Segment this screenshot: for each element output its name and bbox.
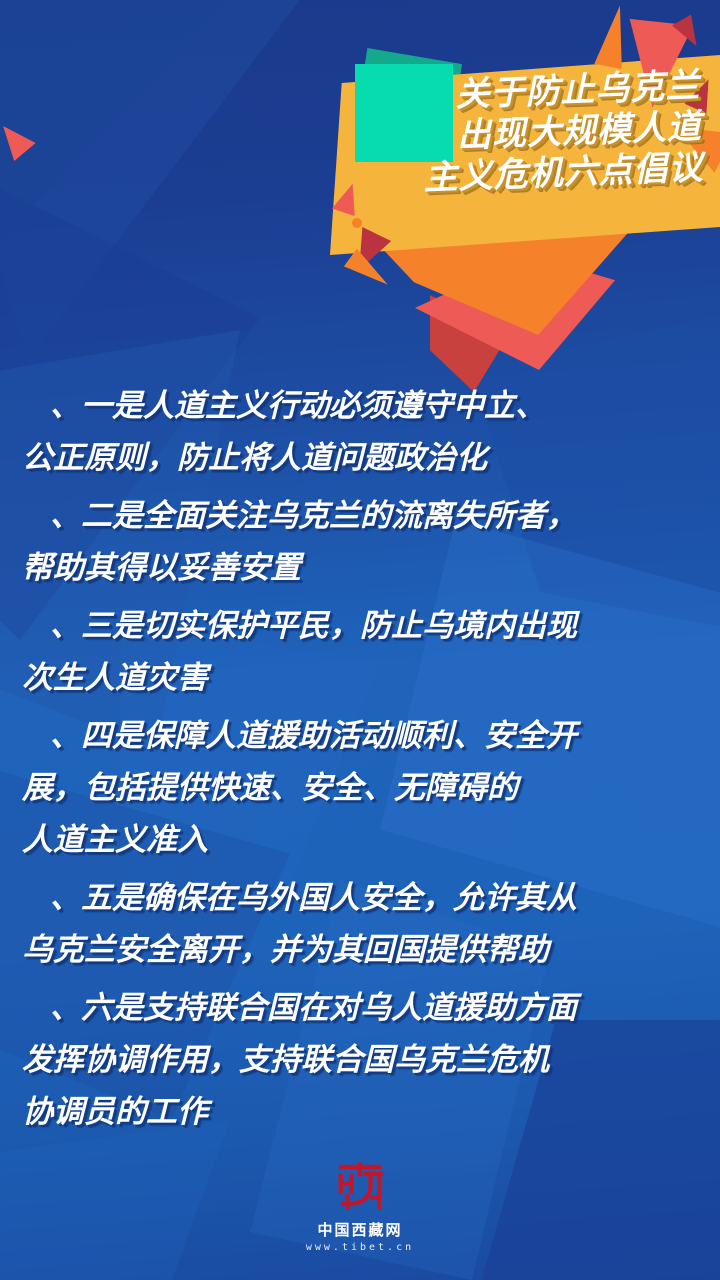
point-line: 次生人道灾害 <box>22 652 698 704</box>
list-item: 、三是切实保护平民，防止乌境内出现 次生人道灾害 <box>22 600 698 704</box>
point-line: 帮助其得以妥善安置 <box>22 542 698 594</box>
list-item: 、一是人道主义行动必须遵守中立、 公正原则，防止将人道问题政治化 <box>22 380 698 484</box>
poster-root: 关于防止乌克兰 出现大规模人道 主义危机六点倡议 、一是人道主义行动必须遵守中立… <box>0 0 720 1280</box>
point-line: 、六是支持联合国在对乌人道援助方面 <box>22 982 698 1034</box>
point-line: 协调员的工作 <box>22 1086 698 1138</box>
triangle-decoration-icon <box>0 117 36 161</box>
point-line: 、一是人道主义行动必须遵守中立、 <box>22 380 698 432</box>
background-facet <box>0 0 230 240</box>
list-item: 、六是支持联合国在对乌人道援助方面 发挥协调作用，支持联合国乌克兰危机 协调员的… <box>22 982 698 1138</box>
background-facet <box>0 0 330 360</box>
point-line: 公正原则，防止将人道问题政治化 <box>22 432 698 484</box>
list-item: 、四是保障人道援助活动顺利、安全开 展，包括提供快速、安全、无障碍的 人道主义准… <box>22 710 698 866</box>
tibet-seal-logo-icon <box>332 1159 388 1215</box>
site-footer: 中国西藏网 www.tibet.cn <box>0 1159 720 1254</box>
point-line: 、五是确保在乌外国人安全，允许其从 <box>22 872 698 924</box>
list-item: 、二是全面关注乌克兰的流离失所者， 帮助其得以妥善安置 <box>22 490 698 594</box>
point-line: 发挥协调作用，支持联合国乌克兰危机 <box>22 1034 698 1086</box>
point-line: 、四是保障人道援助活动顺利、安全开 <box>22 710 698 762</box>
point-line: 乌克兰安全离开，并为其回国提供帮助 <box>22 924 698 976</box>
site-url: www.tibet.cn <box>0 1242 720 1254</box>
dot-decoration-icon <box>352 218 362 228</box>
point-line: 、二是全面关注乌克兰的流离失所者， <box>22 490 698 542</box>
proposal-point-list: 、一是人道主义行动必须遵守中立、 公正原则，防止将人道问题政治化 、二是全面关注… <box>0 380 720 1144</box>
page-title: 关于防止乌克兰 出现大规模人道 主义危机六点倡议 <box>350 65 720 202</box>
site-name: 中国西藏网 <box>0 1221 720 1239</box>
point-line: 展，包括提供快速、安全、无障碍的 <box>22 762 698 814</box>
point-line: 人道主义准入 <box>22 814 698 866</box>
list-item: 、五是确保在乌外国人安全，允许其从 乌克兰安全离开，并为其回国提供帮助 <box>22 872 698 976</box>
point-line: 、三是切实保护平民，防止乌境内出现 <box>22 600 698 652</box>
